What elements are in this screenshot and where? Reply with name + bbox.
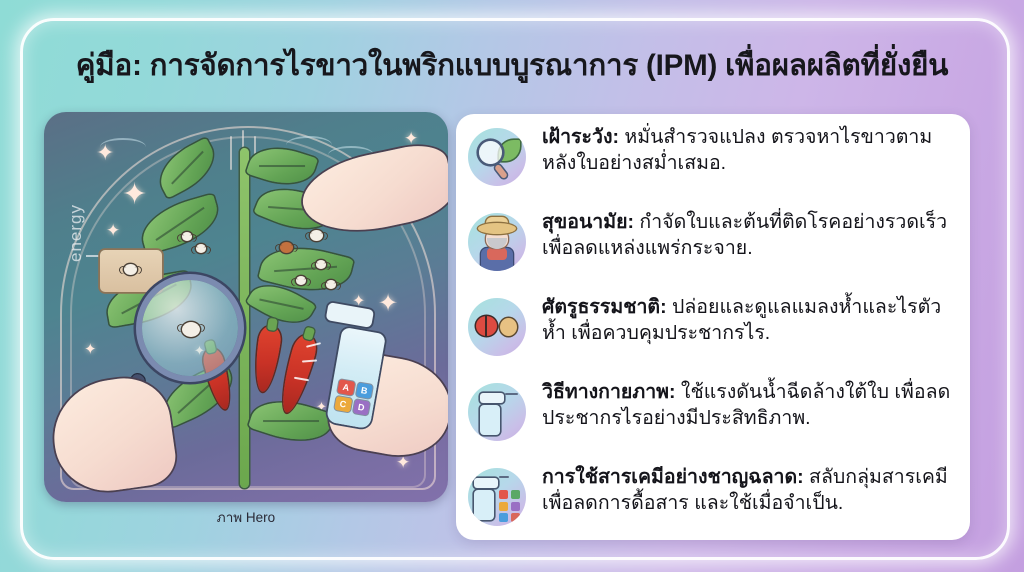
tip-row-sanitation: สุขอนามัย: กำจัดใบและต้นที่ติดโรคอย่างรว… <box>468 207 960 287</box>
spray-bottle-chemical-groups-icon <box>468 468 526 526</box>
tip-row-monitoring: เฝ้าระวัง: หมั่นสำรวจแปลง ตรวจหาไรขาวตาม… <box>468 122 960 202</box>
chemical-tile-a: A <box>337 379 355 395</box>
ladybug-predatory-mite-icon <box>468 298 526 356</box>
sparkle-icon: ✦ <box>122 180 147 210</box>
sparkle-icon: ✦ <box>378 292 398 316</box>
sparkle-icon: ✦ <box>106 222 120 239</box>
mite-diagram-icon <box>124 264 137 275</box>
shine-line <box>230 136 232 170</box>
hero-image: ✦ ✦ ✦ ✦ ✦ ✦ ✦ ✦ ✦ ✦ ✦ ✦ ✦ energy <box>44 112 448 502</box>
tips-panel: เฝ้าระวัง: หมั่นสำรวจแปลง ตรวจหาไรขาวตาม… <box>456 114 970 540</box>
tip-label: เฝ้าระวัง: <box>542 126 619 148</box>
page-title: คู่มือ: การจัดการไรขาวในพริกแบบบูรณาการ … <box>0 48 1024 83</box>
magnifier-leaf-icon <box>468 128 526 186</box>
tip-text: ศัตรูธรรมชาติ: ปล่อยและดูแลแมลงห้ำและไรต… <box>542 292 960 346</box>
tip-text: สุขอนามัย: กำจัดใบและต้นที่ติดโรคอย่างรว… <box>542 207 960 261</box>
tip-text: วิธีทางกายภาพ: ใช้แรงดันน้ำฉีดล้างใต้ใบ … <box>542 377 960 431</box>
infographic-slide: คู่มือ: การจัดการไรขาวในพริกแบบบูรณาการ … <box>0 0 1024 572</box>
farmer-icon <box>468 213 526 271</box>
energy-label: energy <box>66 204 86 262</box>
tip-label: สุขอนามัย: <box>542 211 634 233</box>
chemical-tile-b: B <box>355 382 373 398</box>
mite-on-leaf <box>296 276 306 285</box>
tip-label: ศัตรูธรรมชาติ: <box>542 296 667 318</box>
wave-line <box>100 138 146 156</box>
spray-bottle-icon <box>468 383 526 441</box>
hero-caption: ภาพ Hero <box>44 506 448 528</box>
chemical-group-tiles: A B C D <box>334 379 373 415</box>
mite-on-leaf <box>182 232 192 241</box>
chemical-tile-c: C <box>334 396 352 412</box>
tip-row-chemical-use: การใช้สารเคมีอย่างชาญฉลาด: สลับกลุ่มสารเ… <box>468 462 960 542</box>
mite-on-leaf <box>196 244 206 253</box>
tip-row-natural-enemies: ศัตรูธรรมชาติ: ปล่อยและดูแลแมลงห้ำและไรต… <box>468 292 960 372</box>
chemical-tile-d: D <box>352 399 370 415</box>
mite-on-leaf <box>316 260 326 269</box>
mite-brown <box>280 242 293 253</box>
sparkle-icon: ✦ <box>396 454 410 471</box>
plant-stem <box>240 148 249 488</box>
magnifier-lens <box>142 280 238 376</box>
tip-label: วิธีทางกายภาพ: <box>542 381 676 403</box>
tip-text: การใช้สารเคมีอย่างชาญฉลาด: สลับกลุ่มสารเ… <box>542 462 960 516</box>
tip-text: เฝ้าระวัง: หมั่นสำรวจแปลง ตรวจหาไรขาวตาม… <box>542 122 960 176</box>
mite-magnified <box>182 322 200 337</box>
tip-label: การใช้สารเคมีอย่างชาญฉลาด: <box>542 466 804 488</box>
sparkle-icon: ✦ <box>84 342 97 357</box>
sparkle-icon: ✦ <box>404 130 418 147</box>
tip-row-physical-method: วิธีทางกายภาพ: ใช้แรงดันน้ำฉีดล้างใต้ใบ … <box>468 377 960 457</box>
hero-illustration: ✦ ✦ ✦ ✦ ✦ ✦ ✦ ✦ ✦ ✦ ✦ ✦ ✦ energy <box>44 112 448 540</box>
mite-on-leaf <box>326 280 336 289</box>
mite-plaque <box>100 250 162 292</box>
mite-airborne <box>310 230 323 241</box>
